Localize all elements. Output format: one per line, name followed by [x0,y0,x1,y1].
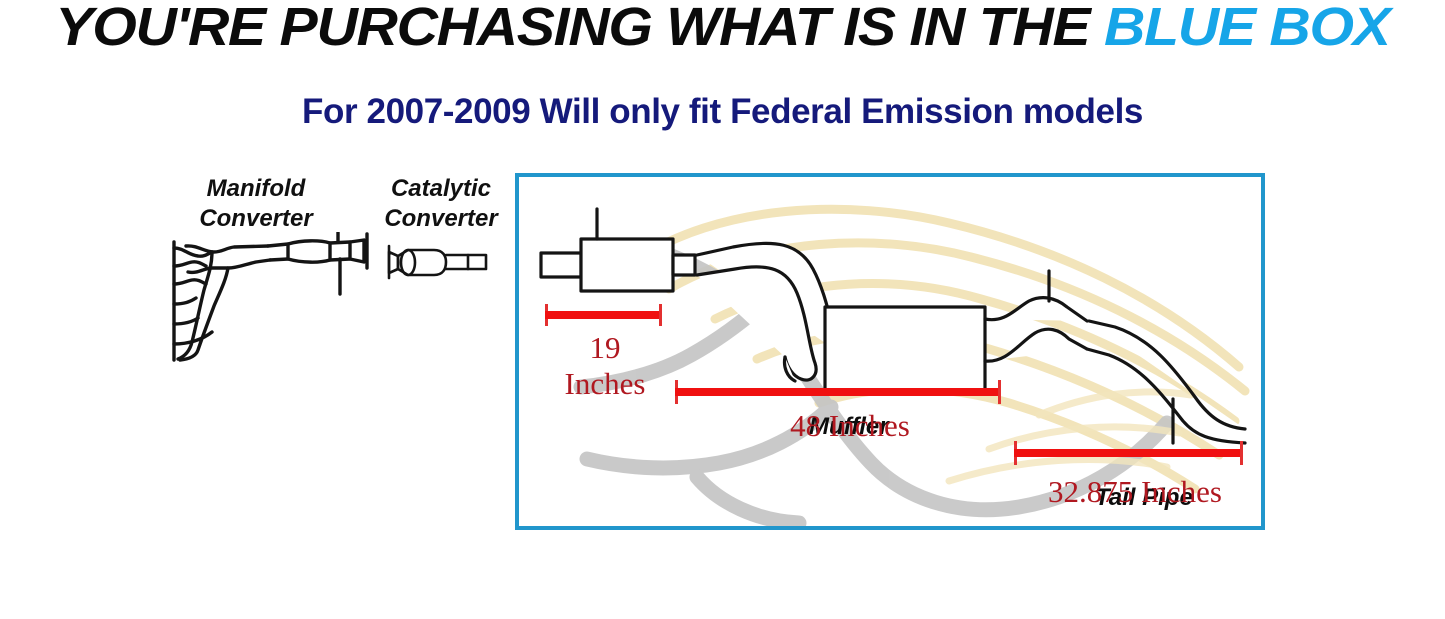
dimension-32875-cap-right [1240,441,1243,465]
dimension-32875-bar [1014,449,1243,457]
page-title: YOU'RE PURCHASING WHAT IS IN THE BLUE BO… [0,0,1445,58]
dimension-19-bar [545,311,662,319]
dimension-19-cap-right [659,304,662,326]
dimension-32875-label: 32.875 Inches [1000,474,1270,510]
catalytic-converter-label: Catalytic Converter [348,174,534,234]
product-listing-image: YOU'RE PURCHASING WHAT IS IN THE BLUE BO… [0,0,1445,619]
manifold-converter-label: Manifold Converter [160,174,352,234]
dimension-48-cap-right [998,380,1001,404]
dimension-48-bar [675,388,1000,396]
page-title-blue-text: BLUE BOX [1104,0,1390,57]
fitment-note: For 2007-2009 Will only fit Federal Emis… [0,88,1445,136]
page-title-dark-text: YOU'RE PURCHASING WHAT IS IN THE [55,0,1104,57]
catalytic-converter-diagram-icon [386,238,492,292]
dimension-19-label: 19 Inches [540,330,670,402]
manifold-converter-diagram-icon [168,232,376,364]
dimension-48-label: 48 Inches [750,408,950,444]
